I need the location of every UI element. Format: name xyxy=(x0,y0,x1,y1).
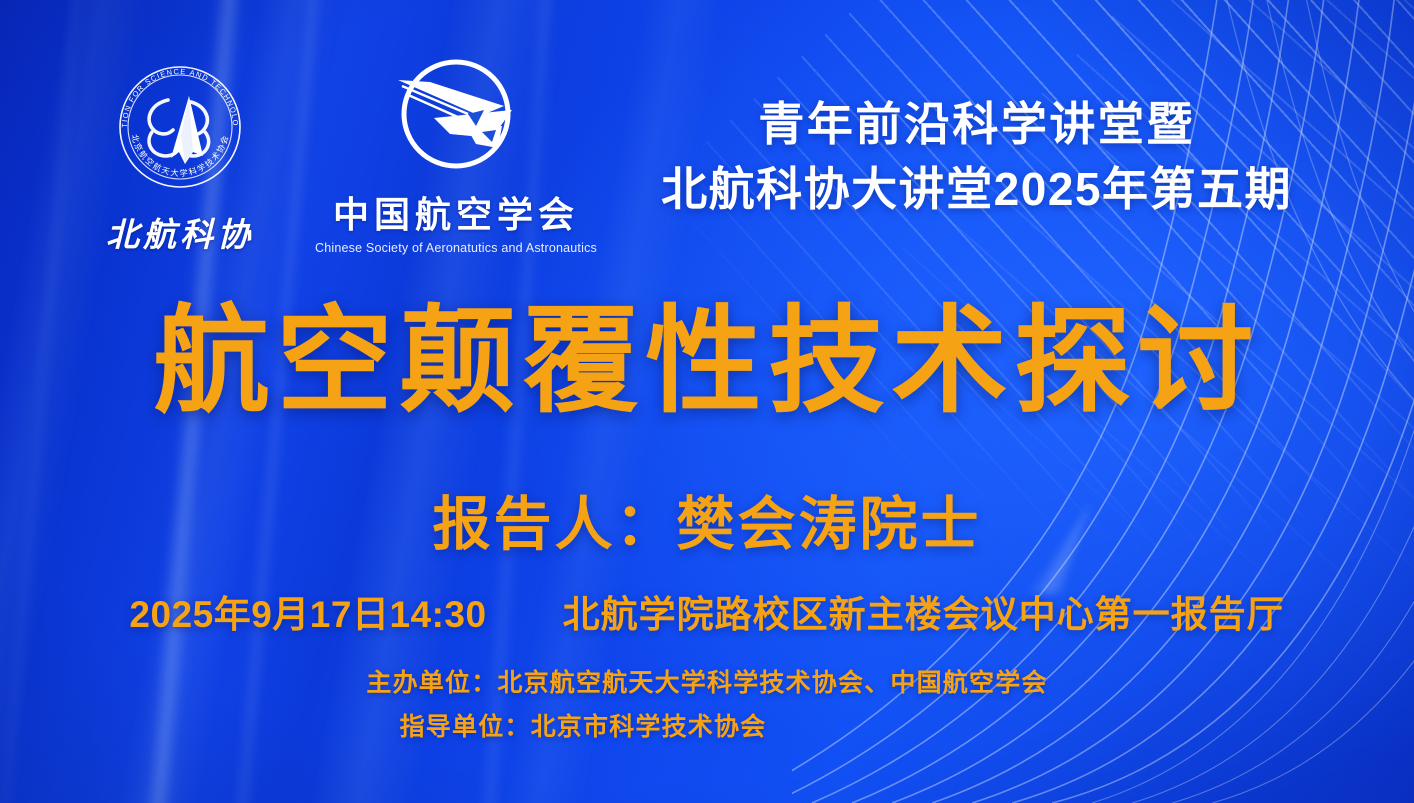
main-title: 航空颠覆性技术探讨 xyxy=(0,303,1414,419)
event-info-row: 2025年9月17日14:30 北航学院路校区新主楼会议中心第一报告厅 xyxy=(0,584,1414,638)
buaa-wordmark: 北航科协 xyxy=(106,208,254,256)
guiding-organization: 指导单位：北京市科学技术协会 xyxy=(0,706,1414,750)
logo-row: ASSOCIATION FOR SCIENCE AND TECHNOLOGY·B… xyxy=(105,52,597,256)
csaa-name-en: Chinese Society of Aeronatutics and Astr… xyxy=(315,241,597,255)
header-line-2: 北航科协大讲堂2025年第五期 xyxy=(661,157,1292,222)
header-series-title: 青年前沿科学讲堂暨 北航科协大讲堂2025年第五期 xyxy=(661,92,1292,223)
csaa-name-cn: 中国航空学会 xyxy=(333,186,579,238)
speaker-line: 报告人：樊会涛院士 xyxy=(0,477,1414,561)
csaa-logo: 中国航空学会 Chinese Society of Aeronatutics a… xyxy=(315,52,597,255)
header-line-1: 青年前沿科学讲堂暨 xyxy=(661,92,1292,157)
poster-content: ASSOCIATION FOR SCIENCE AND TECHNOLOGY·B… xyxy=(0,0,1414,803)
svg-text:ASSOCIATION FOR SCIENCE AND TE: ASSOCIATION FOR SCIENCE AND TECHNOLOGY·B… xyxy=(105,52,240,128)
event-poster: ASSOCIATION FOR SCIENCE AND TECHNOLOGY·B… xyxy=(0,0,1414,803)
organizer-block: 主办单位：北京航空航天大学科学技术协会、中国航空学会 指导单位：北京市科学技术协… xyxy=(0,662,1414,749)
event-datetime: 2025年9月17日14:30 xyxy=(129,584,486,638)
buaa-seal-icon: ASSOCIATION FOR SCIENCE AND TECHNOLOGY·B… xyxy=(105,52,255,202)
csaa-aircraft-icon xyxy=(372,52,540,184)
buaa-association-logo: ASSOCIATION FOR SCIENCE AND TECHNOLOGY·B… xyxy=(105,52,255,256)
event-venue: 北航学院路校区新主楼会议中心第一报告厅 xyxy=(563,584,1285,638)
host-organizations: 主办单位：北京航空航天大学科学技术协会、中国航空学会 xyxy=(0,662,1414,706)
